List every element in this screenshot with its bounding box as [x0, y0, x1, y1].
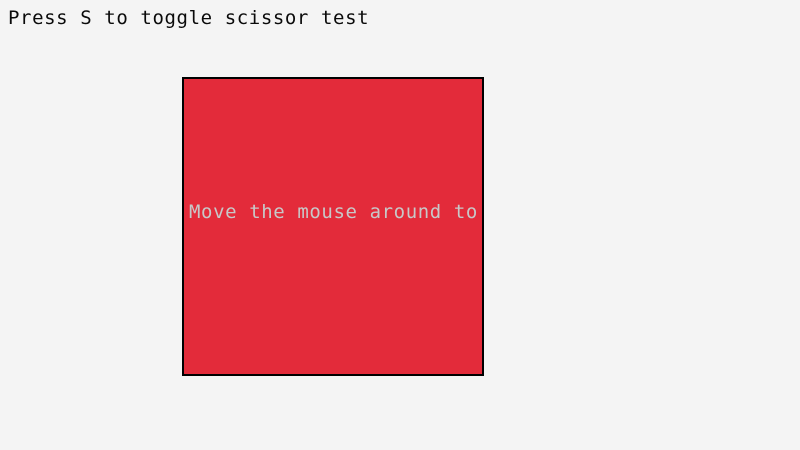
scissor-test-rectangle[interactable]: Move the mouse around to reveal the scis…: [182, 77, 484, 376]
app-canvas: Press S to toggle scissor test Move the …: [0, 0, 800, 450]
scissor-clipped-text: Move the mouse around to reveal the scis…: [189, 201, 482, 223]
scissor-toggle-hint: Press S to toggle scissor test: [8, 7, 369, 29]
scissor-clip-region: Move the mouse around to reveal the scis…: [184, 79, 482, 374]
